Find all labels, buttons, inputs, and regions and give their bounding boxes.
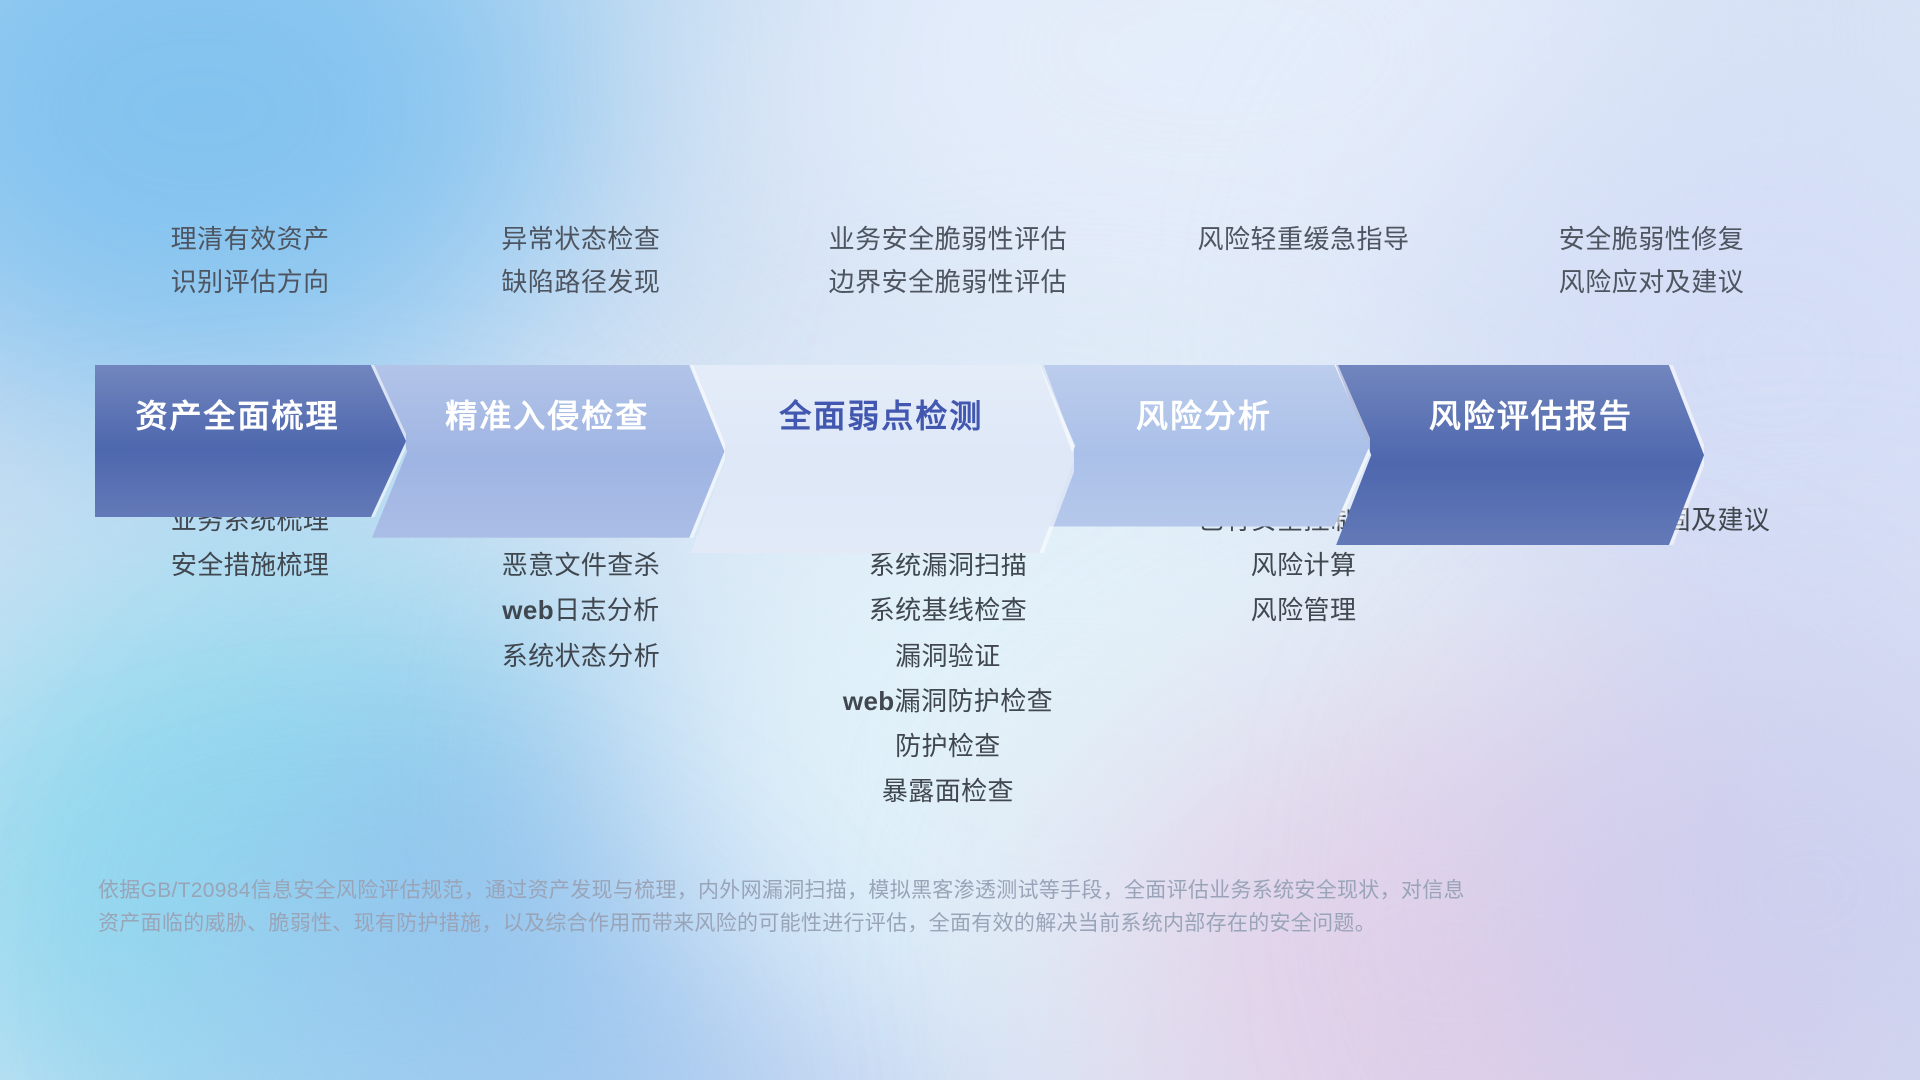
chevron-title: 全面弱点检测 [763, 391, 1001, 437]
chevron-stage-risk-analysis[interactable]: 风险分析 [1040, 365, 1370, 463]
list-item: 风险计算 [1251, 550, 1357, 581]
top-label: 边界安全脆弱性评估 [829, 268, 1068, 298]
list-item: 系统漏洞扫描 [869, 550, 1027, 581]
list-item: 防护检查 [895, 731, 1001, 762]
process-chevron-band: 资产全面梳理精准入侵检查全面弱点检测风险分析风险评估报告 [95, 365, 1840, 463]
top-label: 缺陷路径发现 [501, 268, 660, 298]
top-label-group-intrusion-check: 异常状态检查缺陷路径发现 [405, 225, 757, 298]
top-label: 异常状态检查 [501, 225, 660, 255]
chevron-stage-asset-inventory[interactable]: 资产全面梳理 [95, 365, 406, 463]
list-item-prefix: web [502, 595, 554, 625]
chevron-title: 风险分析 [1120, 391, 1290, 437]
chevron-title: 风险评估报告 [1407, 391, 1633, 437]
top-outcome-labels: 理清有效资产识别评估方向异常状态检查缺陷路径发现业务安全脆弱性评估边界安全脆弱性… [95, 225, 1835, 298]
footer-line-1: 依据GB/T20984信息安全风险评估规范，通过资产发现与梳理，内外网漏洞扫描，… [98, 875, 1658, 908]
list-item-prefix: web [843, 686, 895, 716]
chevron-stage-risk-report[interactable]: 风险评估报告 [1336, 365, 1704, 463]
chevron-stage-intrusion-check[interactable]: 精准入侵检查 [372, 365, 725, 463]
chevron-title: 资产全面梳理 [136, 391, 366, 437]
list-item: 系统状态分析 [502, 641, 660, 672]
top-label-group-risk-analysis: 风险轻重缓急指导 [1139, 225, 1468, 298]
list-item: web日志分析 [502, 595, 659, 626]
list-item: 漏洞验证 [895, 641, 1001, 672]
top-label: 业务安全脆弱性评估 [829, 225, 1068, 255]
list-item-label: 漏洞防护检查 [895, 686, 1053, 716]
top-label-group-weakness-detection: 业务安全脆弱性评估边界安全脆弱性评估 [757, 225, 1140, 298]
top-label: 风险轻重缓急指导 [1198, 225, 1410, 255]
top-label: 风险应对及建议 [1559, 268, 1745, 298]
chevron-shape [95, 365, 406, 517]
list-item: 风险管理 [1251, 595, 1357, 626]
top-label-group-asset-inventory: 理清有效资产识别评估方向 [95, 225, 405, 298]
list-item: web漏洞防护检查 [843, 686, 1053, 717]
top-label-group-risk-report: 安全脆弱性修复风险应对及建议 [1468, 225, 1835, 298]
top-label: 理清有效资产 [171, 225, 330, 255]
infographic-canvas: 理清有效资产识别评估方向异常状态检查缺陷路径发现业务安全脆弱性评估边界安全脆弱性… [0, 0, 1920, 1080]
chevron-stage-weakness-detection[interactable]: 全面弱点检测 [691, 365, 1075, 463]
top-label: 识别评估方向 [171, 268, 330, 298]
list-item: 系统基线检查 [869, 595, 1027, 626]
list-item: 安全措施梳理 [171, 550, 329, 581]
chevron-shape [1040, 365, 1370, 527]
footer-description: 依据GB/T20984信息安全风险评估规范，通过资产发现与梳理，内外网漏洞扫描，… [98, 875, 1658, 940]
footer-line-2: 资产面临的威胁、脆弱性、现有防护措施，以及综合作用而带来风险的可能性进行评估，全… [98, 908, 1658, 941]
top-label: 安全脆弱性修复 [1559, 225, 1745, 255]
list-item: 暴露面检查 [882, 776, 1014, 807]
chevron-title: 精准入侵检查 [429, 391, 667, 437]
list-item-label: 日志分析 [554, 595, 660, 625]
list-item: 恶意文件查杀 [502, 550, 660, 581]
